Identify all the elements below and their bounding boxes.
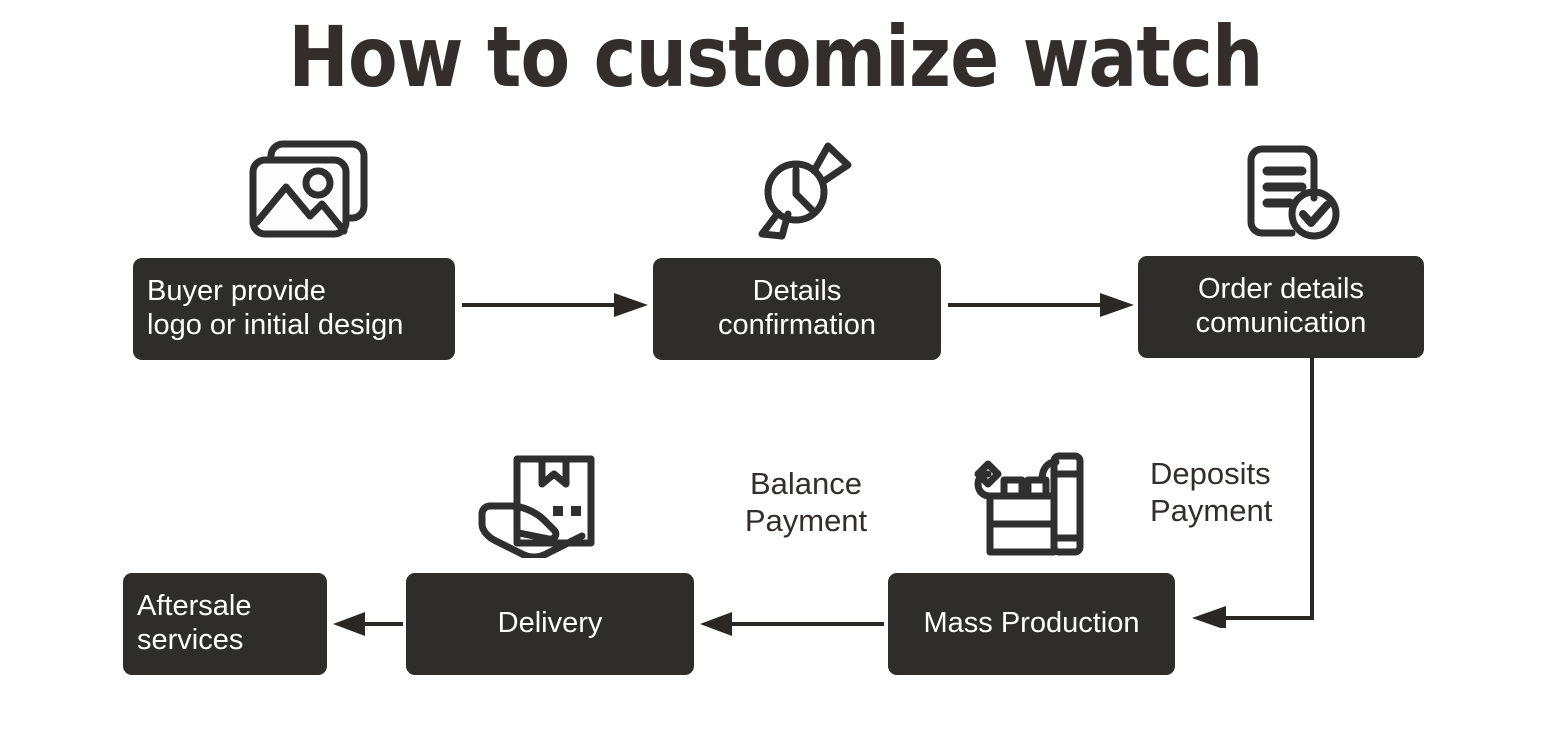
- step-box-mass-production[interactable]: Mass Production: [888, 573, 1175, 675]
- step-label: Buyer provide logo or initial design: [147, 275, 403, 342]
- balance-payment-label: Balance Payment: [706, 465, 906, 539]
- factory-icon: [972, 452, 1084, 558]
- step-box-details-confirmation[interactable]: Details confirmation: [653, 258, 941, 360]
- step-label: Mass Production: [924, 607, 1140, 641]
- step-label: Order details comunication: [1196, 273, 1367, 340]
- step-box-buyer-provide[interactable]: Buyer provide logo or initial design: [133, 258, 455, 360]
- step-label: Aftersale services: [137, 590, 251, 657]
- step-label: Details confirmation: [718, 275, 876, 342]
- deposits-payment-label: Deposits Payment: [1150, 455, 1340, 529]
- step-label: Delivery: [498, 607, 603, 641]
- arrow-step1-step2: [462, 292, 648, 323]
- step-box-order-details[interactable]: Order details comunication: [1138, 256, 1424, 358]
- wristwatch-icon: [752, 138, 852, 242]
- step-box-delivery[interactable]: Delivery: [406, 573, 694, 675]
- arrow-step4-step5: [700, 611, 884, 642]
- package-hand-icon: [474, 452, 604, 558]
- arrow-step2-step3: [948, 292, 1134, 323]
- images-stack-icon: [244, 136, 374, 244]
- document-check-icon: [1242, 142, 1342, 244]
- step-box-aftersale-services[interactable]: Aftersale services: [123, 573, 327, 675]
- flowchart-canvas: How to customize watch: [0, 0, 1551, 729]
- page-title: How to customize watch: [109, 8, 1443, 106]
- arrow-step5-step6: [333, 611, 403, 642]
